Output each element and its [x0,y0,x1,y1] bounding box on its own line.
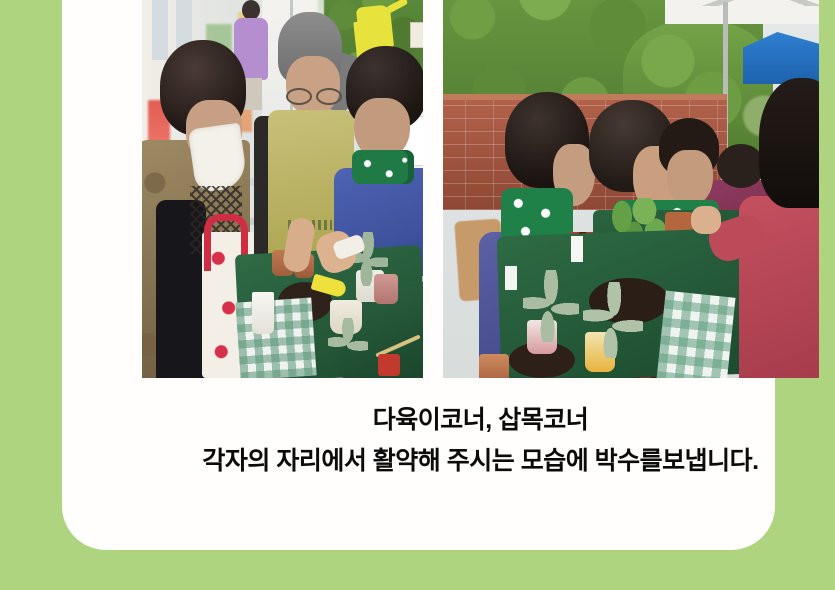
gingham-cloth [656,291,735,378]
content-card: 다육이코너, 삽목코너 각자의 자리에서 활약해 주시는 모습에 박수를보냅니다… [62,0,775,550]
slide-canvas: 다육이코너, 삽목코너 각자의 자리에서 활약해 주시는 모습에 박수를보냅니다… [0,0,835,590]
wall-note [410,22,423,48]
succulent-corner-photo[interactable] [142,0,423,378]
succulent-plant [583,282,643,358]
face [286,56,340,116]
plant-label-tag [571,236,583,262]
caption-line-2: 각자의 자리에서 활약해 주시는 모습에 박수를보냅니다. [124,445,835,478]
cutting-corner-photo[interactable] [443,0,819,378]
paper-cup [252,292,274,334]
face [667,150,713,206]
canopy-frame [677,0,819,6]
caption-block: 다육이코너, 삽목코너 각자의 자리에서 활약해 주시는 모습에 박수를보냅니다… [124,404,835,477]
long-hair [759,78,819,208]
photo-gallery [142,0,819,378]
red-pot [378,354,400,376]
eyeglasses-icon [286,88,342,101]
hand [691,206,721,234]
terracotta-pot [479,354,509,378]
scarf-dots [352,150,414,184]
person-head [242,0,260,20]
gingham-cloth [235,297,316,378]
succulent-plant [328,318,368,366]
plant-label-tag [505,266,517,290]
caption-line-1: 다육이코너, 삽목코너 [124,404,835,437]
succulent-plant [523,270,579,342]
participant-foreground-pink [743,78,819,378]
